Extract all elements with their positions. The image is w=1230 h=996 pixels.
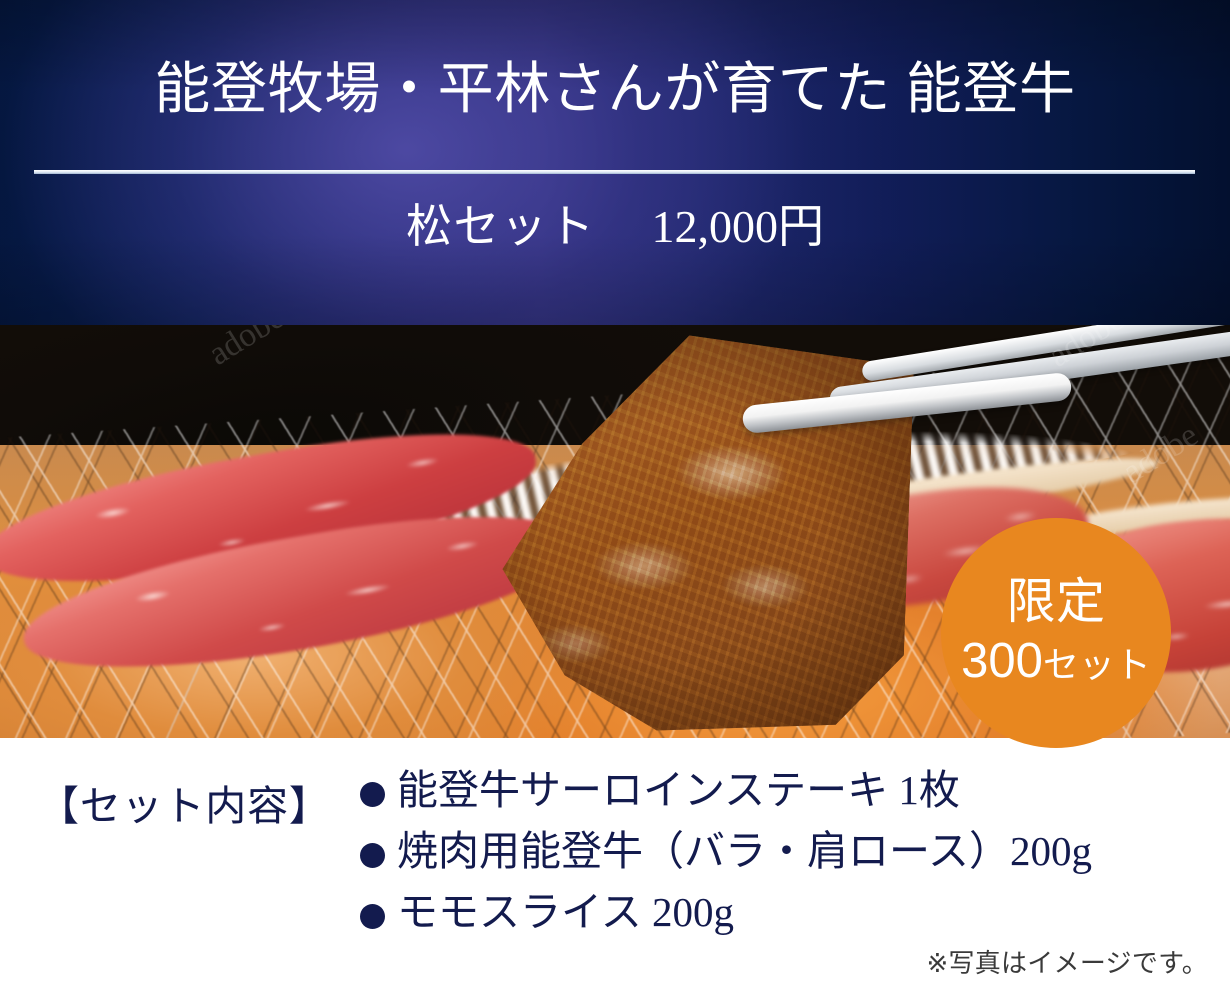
- set-contents-section: 【セット内容】 能登牛サーロインステーキ 1枚 焼肉用能登牛（バラ・肩ロース）2…: [0, 738, 1230, 996]
- list-item-label: 能登牛サーロインステーキ 1枚: [397, 770, 960, 811]
- header-banner: 能登牧場・平林さんが育てた 能登牛 松セット12,000円: [0, 0, 1230, 325]
- set-name: 松セット: [406, 201, 596, 252]
- badge-quantity-unit: セット: [1043, 644, 1151, 685]
- set-contents-label: 【セット内容】: [38, 772, 331, 832]
- photo-disclaimer-note: ※写真はイメージです。: [926, 943, 1208, 980]
- badge-quantity-number: 300: [961, 634, 1043, 688]
- bullet-dot-icon: [360, 843, 385, 868]
- badge-quantity-line: 300セット: [961, 634, 1151, 689]
- page-title: 能登牧場・平林さんが育てた 能登牛: [0, 62, 1230, 119]
- list-item-label: 焼肉用能登牛（バラ・肩ロース）200g: [397, 831, 1092, 872]
- list-item: 焼肉用能登牛（バラ・肩ロース）200g: [360, 831, 1220, 872]
- list-item: 能登牛サーロインステーキ 1枚: [360, 770, 1220, 811]
- header-divider: [34, 170, 1195, 174]
- list-item-label: モモスライス 200g: [397, 892, 734, 933]
- bullet-dot-icon: [360, 904, 385, 929]
- product-promo-banner: 能登牧場・平林さんが育てた 能登牛 松セット12,000円 adobe adob…: [0, 0, 1230, 996]
- badge-label-limited: 限定: [1007, 577, 1106, 628]
- limited-quantity-badge: 限定 300セット: [941, 518, 1171, 748]
- set-contents-list: 能登牛サーロインステーキ 1枚 焼肉用能登牛（バラ・肩ロース）200g モモスラ…: [360, 770, 1220, 953]
- set-price: 12,000円: [652, 201, 825, 252]
- bullet-dot-icon: [360, 782, 385, 807]
- set-price-line: 松セット12,000円: [0, 203, 1230, 251]
- list-item: モモスライス 200g: [360, 892, 1220, 933]
